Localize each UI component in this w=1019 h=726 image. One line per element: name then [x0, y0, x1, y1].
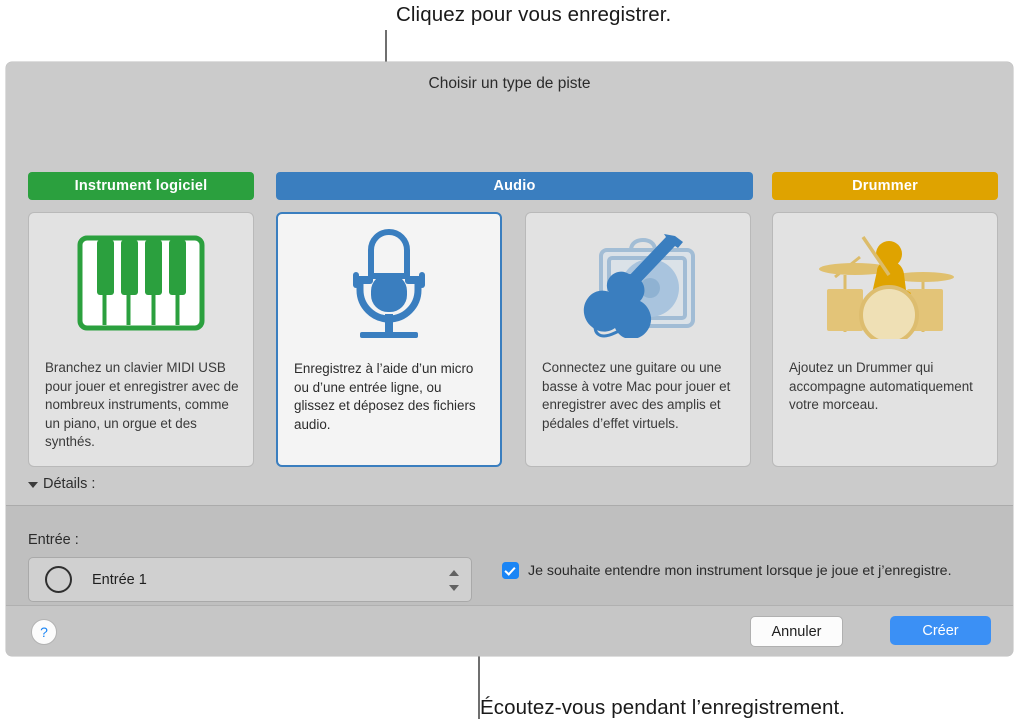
card-description: Connectez une guitare ou une basse à vot…: [542, 359, 736, 433]
callout-monitor-label: Écoutez-vous pendant l’enregistrement.: [480, 696, 845, 720]
monitor-checkbox[interactable]: [502, 562, 519, 579]
monitor-checkbox-row[interactable]: Je souhaite entendre mon instrument lors…: [502, 562, 952, 579]
input-select-value: Entrée 1: [92, 572, 147, 588]
create-button[interactable]: Créer: [890, 616, 991, 645]
track-type-card-list: Branchez un clavier MIDI USB pour jouer …: [28, 212, 991, 467]
cancel-button[interactable]: Annuler: [750, 616, 843, 647]
triangle-down-icon: [28, 482, 38, 488]
card-drummer[interactable]: Ajoutez un Drummer qui accompagne automa…: [772, 212, 998, 467]
card-description: Enregistrez à l’aide d’un micro ou d’une…: [294, 360, 486, 434]
mono-circle-icon: [45, 566, 72, 593]
drummer-icon: [773, 213, 997, 353]
dialog-title: Choisir un type de piste: [6, 75, 1013, 93]
tab-drummer[interactable]: Drummer: [772, 172, 998, 200]
dialog-footer: ? Annuler Créer: [6, 605, 1013, 656]
microphone-icon: [278, 214, 500, 354]
card-guitare[interactable]: Connectez une guitare ou une basse à vot…: [525, 212, 751, 467]
card-instrument-logiciel[interactable]: Branchez un clavier MIDI USB pour jouer …: [28, 212, 254, 467]
card-audio[interactable]: Enregistrez à l’aide d’un micro ou d’une…: [276, 212, 502, 467]
details-label: Détails :: [43, 476, 95, 492]
card-description: Branchez un clavier MIDI USB pour jouer …: [45, 359, 239, 452]
help-button[interactable]: ?: [31, 619, 57, 645]
tab-instrument-logiciel[interactable]: Instrument logiciel: [28, 172, 254, 200]
details-disclosure-row: Détails :: [6, 470, 1013, 505]
tab-audio[interactable]: Audio: [276, 172, 753, 200]
chevron-down-icon: [449, 585, 459, 591]
stepper-up-down-icon[interactable]: [448, 570, 459, 591]
input-label: Entrée :: [28, 532, 79, 548]
new-track-dialog: Choisir un type de piste Instrument logi…: [6, 62, 1013, 656]
details-disclosure-toggle[interactable]: Détails :: [28, 476, 95, 492]
card-description: Ajoutez un Drummer qui accompagne automa…: [789, 359, 983, 415]
guitar-amp-icon: [526, 213, 750, 353]
chevron-up-icon: [449, 570, 459, 576]
callout-record-label: Cliquez pour vous enregistrer.: [396, 3, 671, 27]
piano-keyboard-icon: [29, 213, 253, 353]
input-select[interactable]: Entrée 1: [28, 557, 472, 602]
monitor-checkbox-label: Je souhaite entendre mon instrument lors…: [528, 563, 952, 579]
track-type-tab-bar: Instrument logiciel Audio Drummer: [28, 172, 991, 200]
